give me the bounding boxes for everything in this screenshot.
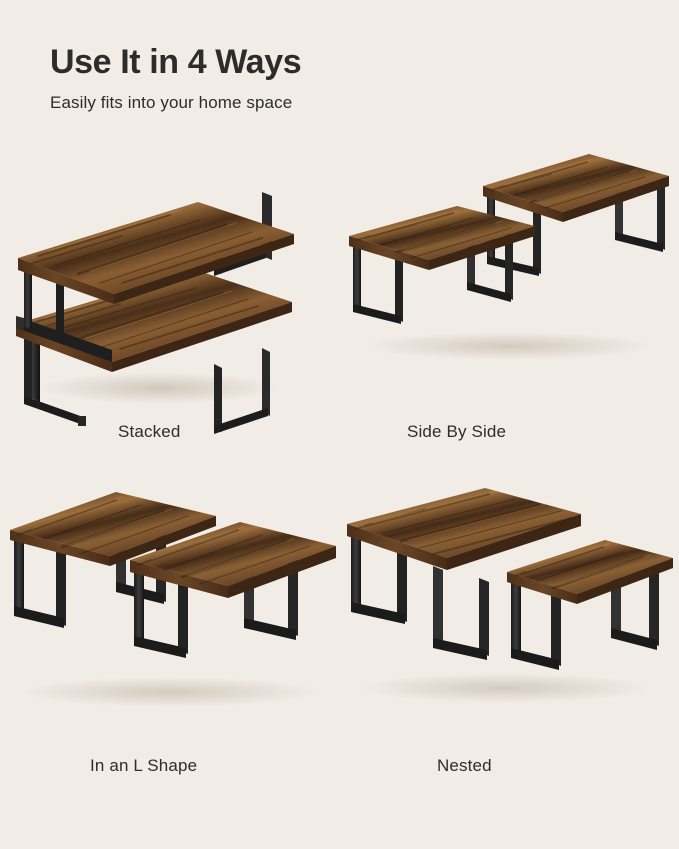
stacked-illustration xyxy=(0,150,339,412)
page-title: Use It in 4 Ways xyxy=(50,42,650,82)
side-by-side-illustration xyxy=(339,150,678,412)
floor-shadow xyxy=(360,673,650,703)
config-label-l-shape: In an L Shape xyxy=(90,756,197,776)
config-stacked: Stacked xyxy=(0,150,339,470)
config-label-stacked: Stacked xyxy=(118,422,180,442)
page-subtitle: Easily fits into your home space xyxy=(50,92,650,114)
floor-shadow xyxy=(364,332,654,360)
small-tabletop xyxy=(507,540,673,604)
configuration-grid: Stacked xyxy=(0,150,679,810)
large-tabletop xyxy=(347,488,581,570)
config-nested: Nested xyxy=(339,480,678,800)
floor-shadow xyxy=(20,677,320,707)
header: Use It in 4 Ways Easily fits into your h… xyxy=(50,42,650,114)
right-tabletop xyxy=(483,154,669,222)
config-label-side-by-side: Side By Side xyxy=(407,422,506,442)
nested-illustration xyxy=(339,480,678,742)
config-side-by-side: Side By Side xyxy=(339,150,678,470)
config-l-shape: In an L Shape xyxy=(0,480,339,800)
l-shape-illustration xyxy=(0,480,339,742)
floor-shadow xyxy=(40,372,280,404)
config-label-nested: Nested xyxy=(437,756,492,776)
